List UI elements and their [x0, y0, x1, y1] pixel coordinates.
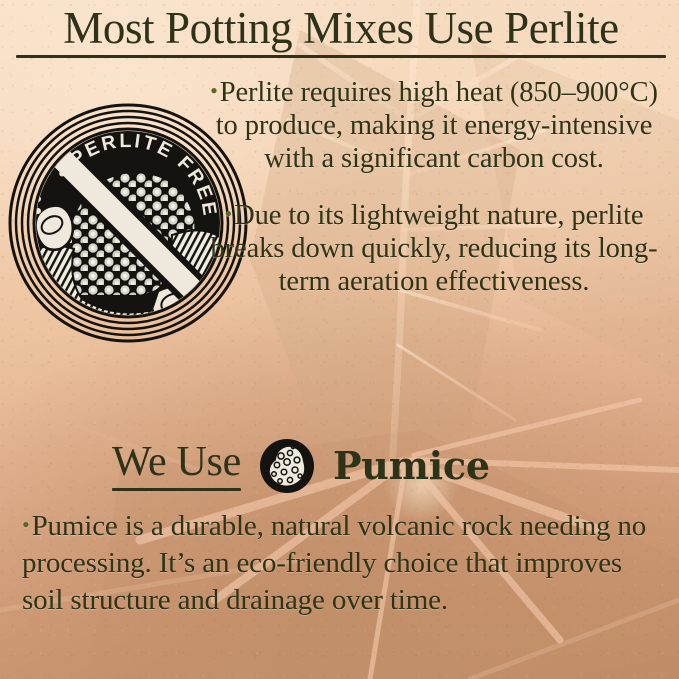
we-use-label-block: We Use	[112, 441, 241, 491]
content-layer: Most Potting Mixes Use Perlite	[0, 0, 679, 679]
infographic-canvas: Most Potting Mixes Use Perlite	[0, 0, 679, 679]
bullet-item-1: •Perlite requires high heat (850–900°C) …	[196, 76, 672, 175]
page-title-block: Most Potting Mixes Use Perlite	[16, 6, 666, 58]
pumice-description: •Pumice is a durable, natural volcanic r…	[22, 508, 654, 618]
bullet-marker-2: •	[225, 201, 235, 226]
bullet-text-1: Perlite requires high heat (850–900°C) t…	[216, 77, 658, 174]
bullet-text-2: Due to its lightweight nature, perlite b…	[211, 200, 658, 297]
page-title: Most Potting Mixes Use Perlite	[16, 6, 666, 51]
pumice-description-text: Pumice is a durable, natural volcanic ro…	[22, 510, 646, 616]
we-use-label: We Use	[112, 441, 241, 483]
title-underline-rule	[16, 55, 666, 58]
we-use-row: We Use Pumice	[112, 438, 490, 494]
bullet-marker-1: •	[210, 78, 220, 103]
pumice-rock-icon	[259, 438, 315, 494]
we-use-underline-rule	[112, 488, 241, 491]
pumice-heading: Pumice	[333, 447, 490, 485]
bottom-bullet-marker: •	[22, 512, 32, 537]
bullet-item-2: •Due to its lightweight nature, perlite …	[196, 199, 672, 298]
perlite-bullet-list: •Perlite requires high heat (850–900°C) …	[196, 76, 672, 298]
